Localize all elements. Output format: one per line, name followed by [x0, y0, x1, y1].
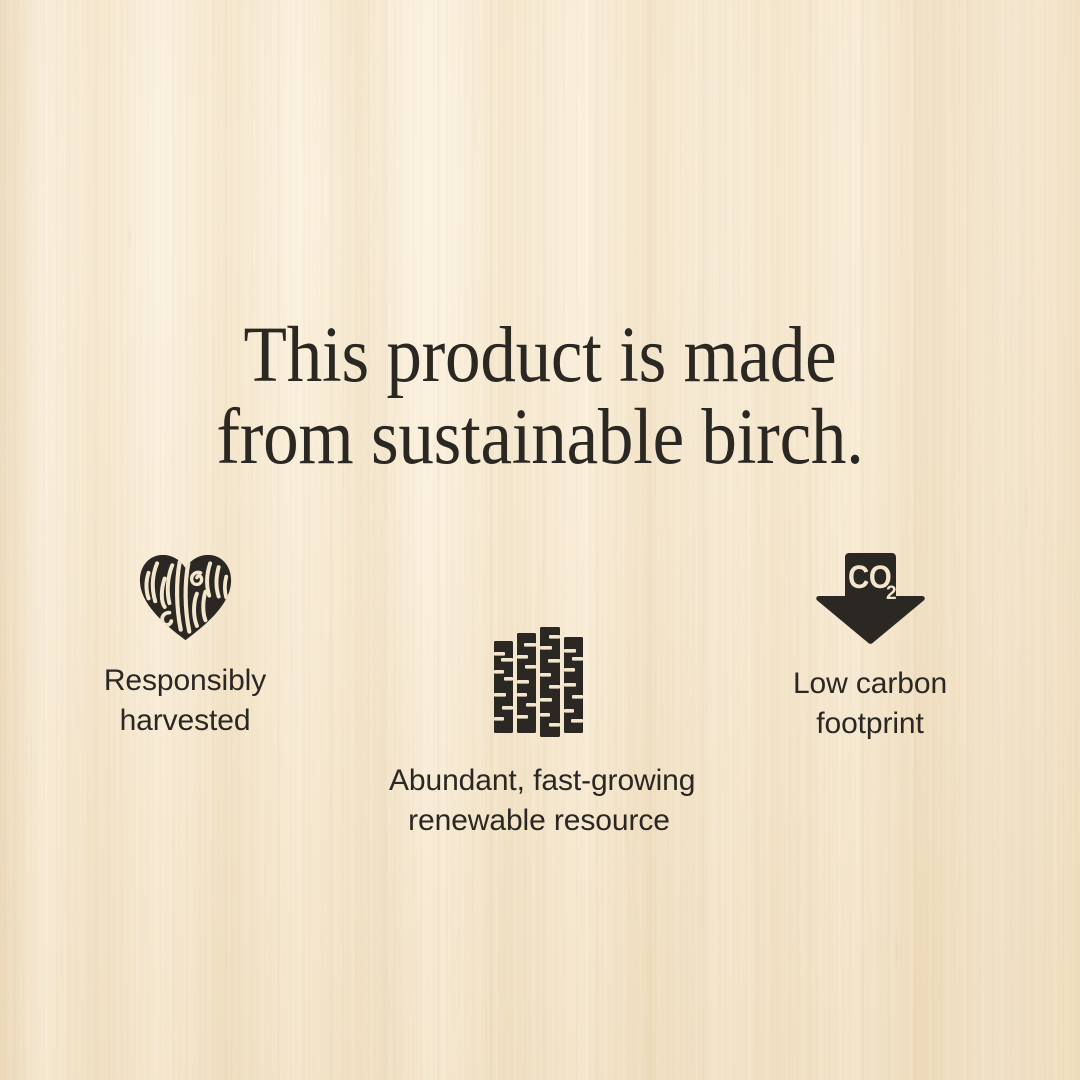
- caption-line-1: Responsibly: [35, 661, 335, 701]
- headline-line-2: from sustainable birch.: [54, 397, 1026, 479]
- headline: This product is made from sustainable bi…: [54, 315, 1026, 479]
- caption-line-2: renewable resource: [389, 801, 689, 841]
- feature-low-carbon-footprint: CO 2 Low carbon footprint: [720, 552, 1020, 744]
- co2-down-arrow-icon: CO 2: [814, 552, 927, 645]
- birch-trunk-2: [517, 633, 536, 733]
- feature-caption-responsibly-harvested: Responsibly harvested: [35, 661, 335, 741]
- heart-body: [138, 552, 233, 642]
- sustainability-panel: This product is made from sustainable bi…: [0, 0, 1080, 1080]
- birch-trunk-1: [494, 641, 513, 733]
- co2-subscript: 2: [886, 583, 897, 604]
- birch-trunk-4: [564, 637, 583, 733]
- feature-caption-low-carbon-footprint: Low carbon footprint: [720, 664, 1020, 744]
- birch-trunks-icon: [492, 625, 586, 737]
- feature-renewable-resource: Abundant, fast-growing renewable resourc…: [389, 625, 689, 841]
- wood-grain-heart-icon: [138, 552, 233, 642]
- birch-trunk-3: [540, 627, 560, 737]
- panel-content: This product is made from sustainable bi…: [0, 0, 1080, 1080]
- caption-line-2: harvested: [35, 701, 335, 741]
- caption-line-1: Abundant, fast-growing: [389, 761, 689, 801]
- co2-label: CO: [848, 559, 891, 595]
- caption-line-1: Low carbon: [720, 664, 1020, 704]
- headline-line-1: This product is made: [54, 315, 1026, 397]
- caption-line-2: footprint: [720, 704, 1020, 744]
- feature-caption-renewable-resource: Abundant, fast-growing renewable resourc…: [389, 761, 689, 841]
- feature-responsibly-harvested: Responsibly harvested: [35, 552, 335, 741]
